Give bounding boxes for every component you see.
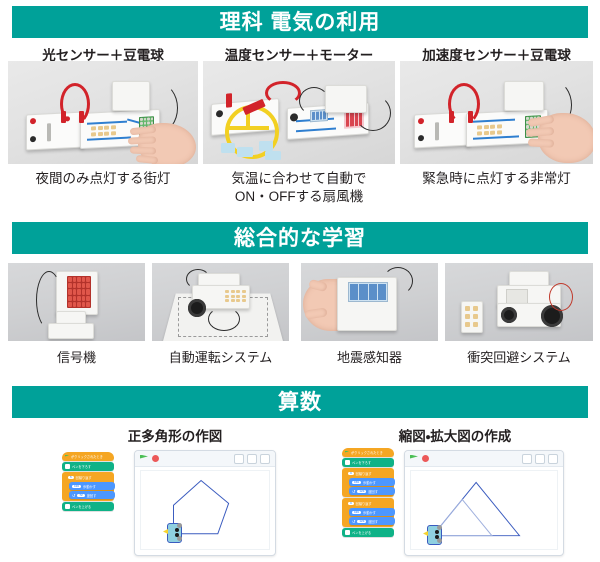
- block-repeat-2[interactable]: 3 回繰り返す: [345, 499, 394, 507]
- block-repeat-1[interactable]: 3 回繰り返す: [345, 469, 394, 477]
- caption-self-driving: 自動運転システム: [152, 347, 289, 366]
- section-header-rika: 理科 電気の利用: [12, 6, 588, 38]
- large-stage-icon[interactable]: [247, 454, 257, 464]
- pen-icon: [345, 460, 350, 465]
- block-pen-up[interactable]: ペンを上げる: [62, 502, 114, 511]
- green-flag-icon: [345, 451, 349, 455]
- robot-wheel: [188, 299, 206, 317]
- small-stage-icon[interactable]: [234, 454, 244, 464]
- stage-size-controls: [234, 454, 270, 464]
- block-move-steps-2[interactable]: 100 歩動かす: [349, 508, 395, 516]
- obstacle-block: [461, 301, 483, 333]
- block-when-flag-clicked[interactable]: がクリックされたとき: [62, 452, 114, 461]
- column-heading-pentagon: 正多角形の作図: [60, 425, 290, 445]
- stage-toolbar: [135, 451, 275, 467]
- block-turn-degrees[interactable]: ↺ 72 度回す: [69, 491, 115, 499]
- turn-degrees-input[interactable]: 72: [77, 494, 84, 497]
- poster-root: 理科 電気の利用 光センサー＋豆電球 温度センサー＋モーター 加速度センサー＋豆…: [0, 0, 600, 562]
- red-lead-wire: [265, 81, 301, 105]
- caption-collision-avoidance: 衝突回避システム: [445, 347, 593, 366]
- scratch-program-scaled-triangle[interactable]: がクリックされたとき ペンを下ろす 3 回繰り返す 150 歩動かす ↺ 120…: [342, 448, 394, 538]
- stage-size-controls: [522, 454, 558, 464]
- pentagon-canvas[interactable]: [140, 470, 270, 550]
- signal-head: [56, 271, 98, 315]
- repeat-count-input-2[interactable]: 3: [348, 502, 354, 505]
- block-repeat-wrapper-2[interactable]: 3 回繰り返す 100 歩動かす ↺ 120 度回す: [342, 498, 394, 527]
- section-title-sansu: 算数: [278, 392, 322, 413]
- led-matrix: [67, 276, 91, 308]
- pen-icon: [345, 530, 350, 535]
- pen-icon: [65, 464, 70, 469]
- move-steps-input[interactable]: 100: [72, 485, 81, 488]
- block-repeat-wrapper[interactable]: 5 回繰り返す 100 歩動かす ↺ 72 度回す: [62, 472, 114, 501]
- block-repeat-wrapper-1[interactable]: 3 回繰り返す 150 歩動かす ↺ 120 度回す: [342, 468, 394, 497]
- column-heading-scaled-figure: 縮図・拡大図の作成: [340, 425, 570, 445]
- block-turn-degrees-2[interactable]: ↺ 120 度回す: [349, 517, 395, 525]
- turn-ccw-icon: ↺: [72, 493, 75, 498]
- turn-degrees-input-2[interactable]: 120: [357, 520, 366, 523]
- small-stage-icon[interactable]: [522, 454, 532, 464]
- block-pen-up[interactable]: ペンを上げる: [342, 528, 394, 537]
- photo-light-sensor-kit: [8, 61, 198, 164]
- block-move-steps[interactable]: 100 歩動かす: [69, 482, 115, 490]
- pentagon-drawing: [141, 471, 269, 549]
- robot-sprite[interactable]: [423, 523, 445, 545]
- caption-temp-sensor: 気温に合わせて自動で ON・OFFする扇風機: [203, 170, 395, 206]
- caption-earthquake-detector: 地震感知器: [301, 347, 438, 366]
- photo-temperature-sensor-motor: [203, 61, 395, 164]
- fullscreen-icon[interactable]: [548, 454, 558, 464]
- pen-icon: [65, 504, 70, 509]
- stage-toolbar: [405, 451, 563, 467]
- scratch-program-pentagon[interactable]: がクリックされたとき ペンを下ろす 5 回繰り返す 100 歩動かす ↺ 72 …: [62, 452, 114, 512]
- black-cable: [208, 307, 240, 331]
- move-steps-input-1[interactable]: 150: [352, 481, 361, 484]
- lcd-display: [348, 282, 388, 302]
- stop-sign-icon[interactable]: [422, 455, 429, 462]
- photo-acceleration-sensor-kit: [400, 61, 593, 164]
- scaled-triangle-canvas[interactable]: [410, 470, 558, 550]
- section-header-sogo: 総合的な学習: [12, 222, 588, 254]
- green-flag-icon[interactable]: [410, 455, 418, 463]
- move-steps-input-2[interactable]: 100: [352, 511, 361, 514]
- contact-pad-grid: [91, 125, 116, 136]
- repeat-count-input[interactable]: 5: [68, 476, 74, 479]
- caption-traffic-signal: 信号機: [8, 347, 145, 366]
- block-pen-down[interactable]: ペンを下ろす: [342, 458, 394, 467]
- block-pen-down[interactable]: ペンを下ろす: [62, 462, 114, 471]
- photo-self-driving-system: [152, 263, 289, 341]
- section-header-sansu: 算数: [12, 386, 588, 418]
- block-move-steps-1[interactable]: 150 歩動かす: [349, 478, 395, 486]
- block-when-flag-clicked[interactable]: がクリックされたとき: [342, 448, 394, 457]
- photo-collision-avoidance-system: [445, 263, 593, 341]
- contact-pad-grid: [477, 124, 502, 135]
- pentagon-stage[interactable]: [134, 450, 276, 556]
- repeat-count-input-1[interactable]: 3: [348, 472, 354, 475]
- scaled-triangle-stage[interactable]: [404, 450, 564, 556]
- fullscreen-icon[interactable]: [260, 454, 270, 464]
- caption-accel-sensor: 緊急時に点灯する非常灯: [400, 170, 593, 188]
- black-cable: [36, 271, 62, 329]
- section-title-rika: 理科 電気の利用: [220, 12, 381, 33]
- section-title-sogo: 総合的な学習: [234, 228, 366, 249]
- turn-degrees-input-1[interactable]: 120: [357, 490, 366, 493]
- caption-light-sensor: 夜間のみ点灯する街灯: [8, 170, 198, 188]
- block-repeat[interactable]: 5 回繰り返す: [65, 473, 114, 481]
- photo-earthquake-detector: [301, 263, 438, 341]
- block-turn-degrees-1[interactable]: ↺ 120 度回す: [349, 487, 395, 495]
- photo-traffic-signal: [8, 263, 145, 341]
- stop-sign-icon[interactable]: [152, 455, 159, 462]
- green-flag-icon: [65, 455, 69, 459]
- black-cable: [383, 267, 413, 295]
- turn-ccw-icon: ↺: [352, 489, 355, 494]
- robot-sprite[interactable]: [163, 521, 185, 543]
- green-flag-icon[interactable]: [140, 455, 148, 463]
- large-stage-icon[interactable]: [535, 454, 545, 464]
- turn-ccw-icon: ↺: [352, 519, 355, 524]
